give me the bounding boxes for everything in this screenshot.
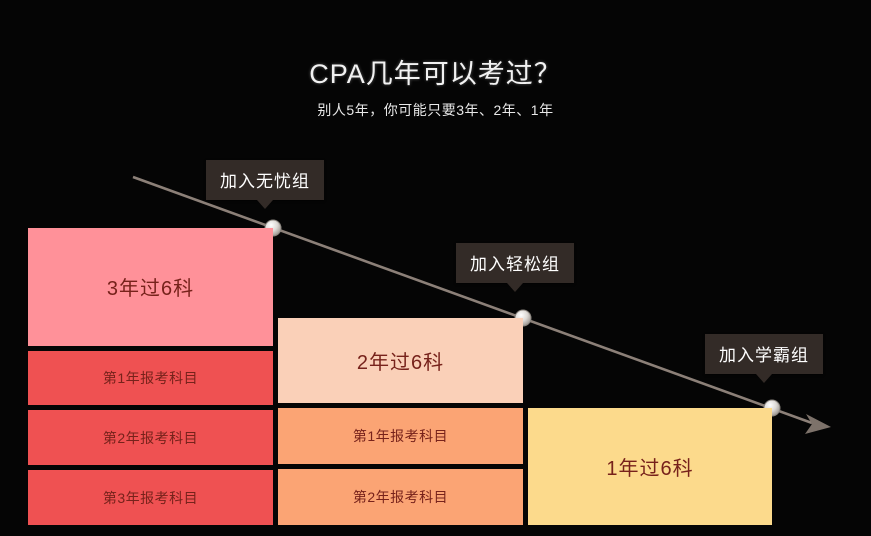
plan-2-years-subject-row-2: 第2年报考科目	[278, 469, 523, 525]
plan-1-year-title: 1年过6科	[528, 408, 772, 525]
callout-easy-group[interactable]: 加入轻松组	[456, 243, 574, 283]
plan-column-2-years[interactable]: 2年过6科 第1年报考科目 第2年报考科目	[278, 318, 523, 525]
infographic-canvas: CPA几年可以考过？ 别人5年，你可能只要3年、2年、1年 加入无忧组 加入轻松…	[0, 0, 871, 536]
page-title: CPA几年可以考过？	[0, 52, 871, 91]
plan-column-3-years[interactable]: 3年过6科 第1年报考科目 第2年报考科目 第3年报考科目	[28, 228, 273, 525]
plan-2-years-subject-row-1: 第1年报考科目	[278, 408, 523, 464]
trend-arrow-head	[805, 414, 831, 434]
plan-3-years-subject-row-2: 第2年报考科目	[28, 410, 273, 465]
callout-worry-free-group[interactable]: 加入无忧组	[206, 160, 324, 200]
plan-3-years-subject-row-3: 第3年报考科目	[28, 470, 273, 525]
plan-3-years-subject-row-1: 第1年报考科目	[28, 351, 273, 406]
plan-2-years-title: 2年过6科	[278, 318, 523, 403]
plan-3-years-title: 3年过6科	[28, 228, 273, 346]
plan-column-1-year[interactable]: 1年过6科	[528, 408, 772, 525]
page-subtitle: 别人5年，你可能只要3年、2年、1年	[0, 100, 871, 120]
callout-top-student-group[interactable]: 加入学霸组	[705, 334, 823, 374]
